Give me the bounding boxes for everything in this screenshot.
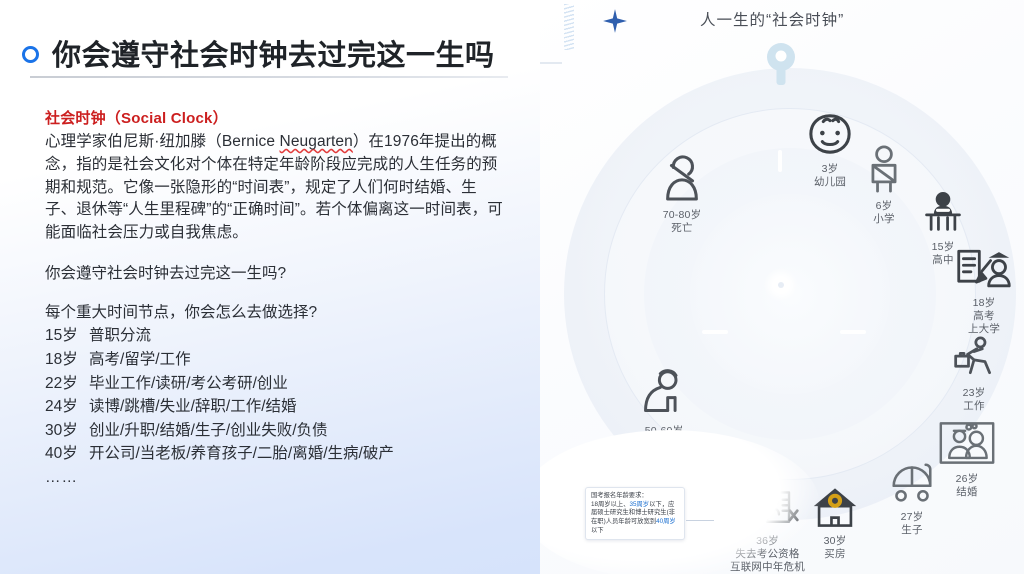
node-death: 70-80岁 死亡 — [660, 152, 704, 235]
choice-age: 30岁 — [45, 419, 89, 443]
node-label: 36岁 失去考公资格 互联网中年危机 — [730, 535, 805, 573]
node-university: 18岁 高考 上大学 — [955, 248, 1013, 335]
callout-line-2: 18周岁以上、35周岁以下，应届硕士研究生和博士研究生(非在职)人员年龄可放宽到… — [591, 501, 679, 536]
node-label: 3岁 幼儿园 — [814, 163, 846, 189]
running-briefcase-icon — [952, 336, 996, 385]
node-event: 工作 — [963, 400, 986, 413]
node-retirement: 50-60岁 退休 — [640, 368, 688, 451]
node-age: 26岁 — [956, 473, 979, 486]
node-age: 23岁 — [963, 387, 986, 400]
callout-line-1: 国考报名年龄要求： — [591, 492, 679, 501]
node-childbirth: 27岁 生子 — [888, 462, 936, 537]
node-label: 15岁 高中 — [932, 241, 955, 267]
key-marker-icon — [762, 42, 800, 80]
node-age: 50-60岁 — [645, 425, 684, 438]
choice-options: 读博/跳槽/失业/辞职/工作/结婚 — [89, 398, 297, 415]
choice-row: 40岁开公司/当老板/养育孩子/二胎/离婚/生病/破产 — [45, 442, 505, 466]
node-age: 18岁 — [968, 297, 1000, 310]
callout-leader-line — [686, 520, 714, 521]
choice-age: 40岁 — [45, 442, 89, 466]
baby-face-icon — [806, 112, 854, 161]
clock-ring-core — [690, 194, 890, 394]
choice-row: 22岁毕业工作/读研/考公考研/创业 — [45, 372, 505, 396]
node-label: 50-60岁 退休 — [645, 425, 684, 451]
right-infographic-panel: 人一生的“社会时钟” — [540, 0, 1024, 574]
house-coin-icon — [812, 486, 858, 533]
callout-highlight-40: 40周岁 — [656, 518, 676, 525]
question-2: 每个重大时间节点，你会怎么去做选择? — [45, 302, 505, 325]
title-divider — [30, 76, 508, 78]
node-event: 结婚 — [956, 486, 979, 499]
node-event: 失去考公资格 — [730, 548, 805, 561]
page-title: 你会遵守社会时钟去过完这一生吗 — [52, 32, 495, 74]
node-label: 18岁 高考 上大学 — [968, 297, 1000, 335]
clock-tick-north — [778, 150, 782, 172]
elder-cane-icon — [640, 368, 688, 423]
node-event: 死亡 — [663, 222, 702, 235]
baby-stroller-icon — [888, 462, 936, 509]
choice-age: 24岁 — [45, 395, 89, 419]
node-event: 幼儿园 — [814, 176, 846, 189]
exam-age-callout: 国考报名年龄要求： 18周岁以上、35周岁以下，应届硕士研究生和博士研究生(非在… — [585, 487, 685, 540]
spacer — [45, 286, 505, 302]
circle-outline-icon — [22, 46, 39, 63]
section-heading: 社会时钟（Social Clock） — [45, 107, 505, 128]
node-label: 26岁 结婚 — [956, 473, 979, 499]
node-age: 36岁 — [730, 535, 805, 548]
corner-tick-decoration — [540, 62, 562, 64]
choice-row: 18岁高考/留学/工作 — [45, 348, 505, 372]
choice-row: 30岁创业/升职/结婚/生子/创业失败/负债 — [45, 419, 505, 443]
node-event: 退休 — [645, 438, 684, 451]
choice-options: 开公司/当老板/养育孩子/二胎/离婚/生病/破产 — [89, 445, 394, 462]
slide-title-row: 你会遵守社会时钟去过完这一生吗 — [22, 32, 495, 74]
node-age: 15岁 — [932, 241, 955, 254]
definition-paragraph: 心理学家伯尼斯·纽加滕（Bernice Neugarten）在1976年提出的概… — [45, 131, 505, 245]
choice-row: 15岁普职分流 — [45, 324, 505, 348]
node-label: 27岁 生子 — [901, 511, 924, 537]
node-event-2: 上大学 — [968, 323, 1000, 336]
node-label: 6岁 小学 — [873, 200, 894, 226]
choice-row: 24岁读博/跳槽/失业/辞职/工作/结婚 — [45, 395, 505, 419]
node-event-2: 互联网中年危机 — [730, 561, 805, 574]
choice-options: 毕业工作/读研/考公考研/创业 — [89, 375, 288, 392]
left-text-panel: 你会遵守社会时钟去过完这一生吗 社会时钟（Social Clock） 心理学家伯… — [0, 0, 540, 574]
node-age: 3岁 — [814, 163, 846, 176]
choice-age: 22岁 — [45, 372, 89, 396]
node-event: 小学 — [873, 213, 894, 226]
wedding-photo-icon — [938, 420, 996, 471]
question-1: 你会遵守社会时钟去过完这一生吗? — [45, 263, 505, 286]
definition-text-1: 心理学家伯尼斯·纽加滕（Bernice — [45, 133, 280, 150]
node-event: 买房 — [824, 548, 847, 561]
node-house-purchase: 30岁 买房 — [812, 486, 858, 561]
node-work: 23岁 工作 — [952, 336, 996, 413]
node-event: 生子 — [901, 524, 924, 537]
clock-center-hub — [772, 276, 790, 294]
node-age: 27岁 — [901, 511, 924, 524]
child-satchel-icon — [865, 145, 903, 198]
misspelled-name: Neugarten — [280, 133, 353, 150]
choice-options: 创业/升职/结婚/生子/创业失败/负债 — [89, 422, 328, 439]
four-point-star-icon — [602, 8, 628, 34]
node-label: 23岁 工作 — [963, 387, 986, 413]
callout-text-e: 以下 — [591, 527, 604, 534]
hatch-decoration — [564, 4, 574, 50]
node-age: 70-80岁 — [663, 209, 702, 222]
student-desk-icon — [922, 192, 964, 239]
choice-age: 15岁 — [45, 324, 89, 348]
clock-tick-west — [702, 330, 728, 334]
choice-options: 普职分流 — [89, 327, 151, 344]
choice-options: 高考/留学/工作 — [89, 351, 191, 368]
clock-tick-east — [840, 330, 866, 334]
node-age: 6岁 — [873, 200, 894, 213]
node-label: 30岁 买房 — [824, 535, 847, 561]
slide: 你会遵守社会时钟去过完这一生吗 社会时钟（Social Clock） 心理学家伯… — [0, 0, 1024, 574]
spacer — [45, 245, 505, 263]
ellipsis-text: …… — [45, 466, 505, 489]
node-event: 高考 — [968, 310, 1000, 323]
node-label: 70-80岁 死亡 — [663, 209, 702, 235]
node-primary-school: 6岁 小学 — [865, 145, 903, 226]
node-marriage: 26岁 结婚 — [938, 420, 996, 499]
node-midlife-crisis: 36岁 失去考公资格 互联网中年危机 — [730, 488, 805, 573]
node-kindergarten: 3岁 幼儿园 — [806, 112, 854, 189]
choice-age: 18岁 — [45, 348, 89, 372]
exam-graduate-icon — [955, 248, 1013, 295]
callout-highlight-35: 35周岁 — [630, 501, 650, 508]
mourning-figure-icon — [660, 152, 704, 207]
body-content: 社会时钟（Social Clock） 心理学家伯尼斯·纽加滕（Bernice N… — [45, 107, 505, 489]
callout-text-a: 18周岁以上、 — [591, 501, 630, 508]
id-card-cross-icon — [734, 488, 800, 533]
node-event: 高中 — [932, 254, 955, 267]
node-age: 30岁 — [824, 535, 847, 548]
infographic-title: 人一生的“社会时钟” — [700, 8, 844, 30]
